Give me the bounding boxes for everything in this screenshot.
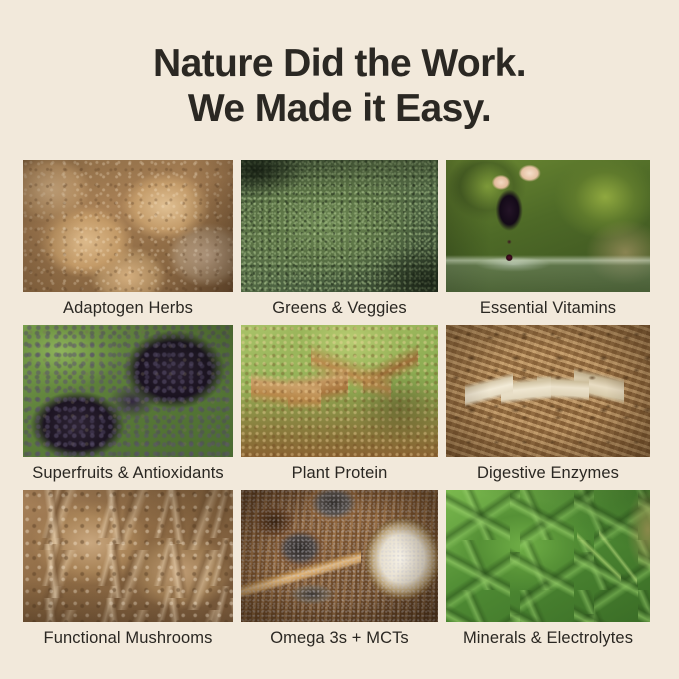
adaptogen-herbs-photo — [23, 160, 233, 292]
grid-item-plant-protein[interactable]: Plant Protein — [241, 325, 438, 490]
caption-adaptogen-herbs: Adaptogen Herbs — [23, 292, 233, 325]
grid-item-omega-3s-mcts[interactable]: Omega 3s + MCTs — [241, 490, 438, 655]
grid-item-functional-mushrooms[interactable]: Functional Mushrooms — [23, 490, 233, 655]
grid-item-minerals-electrolytes[interactable]: Minerals & Electrolytes — [446, 490, 650, 655]
caption-functional-mushrooms: Functional Mushrooms — [23, 622, 233, 655]
caption-greens-veggies: Greens & Veggies — [241, 292, 438, 325]
minerals-electrolytes-photo — [446, 490, 650, 622]
caption-digestive-enzymes: Digestive Enzymes — [446, 457, 650, 490]
caption-superfruits-antioxidants: Superfruits & Antioxidants — [23, 457, 233, 490]
grid-item-adaptogen-herbs[interactable]: Adaptogen Herbs — [23, 160, 233, 325]
caption-plant-protein: Plant Protein — [241, 457, 438, 490]
superfruits-antioxidants-photo — [23, 325, 233, 457]
grid-item-essential-vitamins[interactable]: Essential Vitamins — [446, 160, 650, 325]
greens-veggies-photo — [241, 160, 438, 292]
plant-protein-photo — [241, 325, 438, 457]
grid-item-greens-veggies[interactable]: Greens & Veggies — [241, 160, 438, 325]
grid-item-digestive-enzymes[interactable]: Digestive Enzymes — [446, 325, 650, 490]
caption-essential-vitamins: Essential Vitamins — [446, 292, 650, 325]
caption-omega-3s-mcts: Omega 3s + MCTs — [241, 622, 438, 655]
caption-minerals-electrolytes: Minerals & Electrolytes — [446, 622, 650, 655]
functional-mushrooms-photo — [23, 490, 233, 622]
page-title: Nature Did the Work. We Made it Easy. — [0, 0, 679, 131]
digestive-enzymes-photo — [446, 325, 650, 457]
headline-line-1: Nature Did the Work. — [0, 41, 679, 86]
grid-item-superfruits-antioxidants[interactable]: Superfruits & Antioxidants — [23, 325, 233, 490]
headline-line-2: We Made it Easy. — [0, 86, 679, 131]
essential-vitamins-photo — [446, 160, 650, 292]
omega-3s-mcts-photo — [241, 490, 438, 622]
ingredient-grid: Adaptogen Herbs Greens & Veggies Essenti… — [23, 160, 656, 655]
infographic-poster: Nature Did the Work. We Made it Easy. Ad… — [0, 0, 679, 679]
